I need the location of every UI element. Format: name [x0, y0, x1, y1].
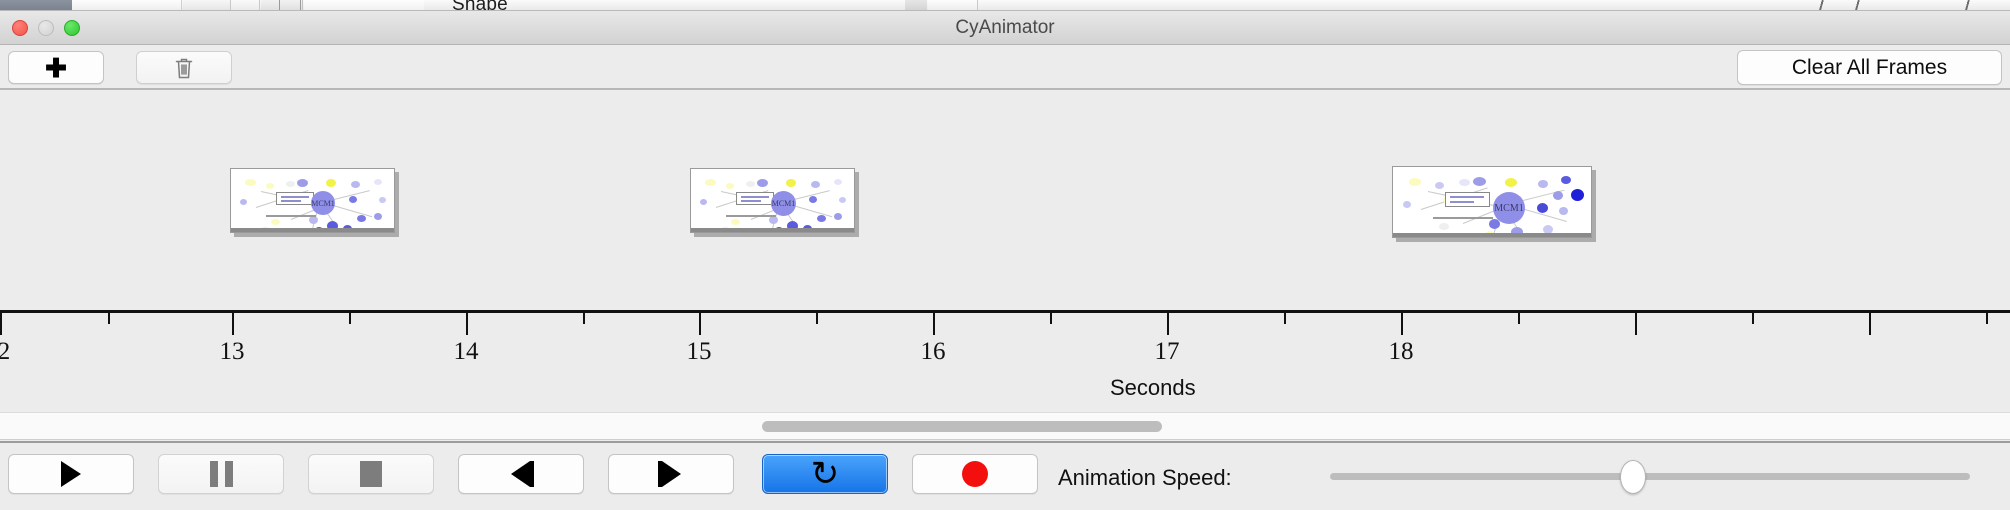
- axis-tick-major: [232, 313, 234, 335]
- axis-tick-minor: [349, 313, 351, 324]
- hub-node: MCM1: [771, 191, 796, 216]
- animation-speed-label: Animation Speed:: [1058, 465, 1232, 491]
- animation-speed-slider[interactable]: [1330, 473, 1970, 481]
- axis-tick-minor: [1518, 313, 1520, 324]
- axis-tick-minor: [1986, 313, 1988, 324]
- plus-icon: ✚: [45, 55, 67, 81]
- frame-thumbnail[interactable]: MCM1: [1392, 166, 1592, 238]
- hub-node-label: MCM1: [311, 199, 335, 208]
- title-bar: CyAnimator: [0, 11, 2010, 45]
- callout-box: [1445, 192, 1490, 207]
- skip-back-icon: [508, 461, 534, 487]
- background-chunk-5: [304, 0, 424, 11]
- axis-tick-label: 18: [1389, 338, 1414, 366]
- hub-node: MCM1: [311, 191, 335, 215]
- axis-tick-label: 2: [0, 338, 10, 366]
- background-chunk-4: [261, 0, 303, 11]
- network-graph: MCM1: [231, 169, 394, 232]
- timeline-axis: [0, 310, 2010, 313]
- axis-tick-label: 13: [220, 338, 245, 366]
- axis-tick-minor: [583, 313, 585, 324]
- axis-tick-minor: [108, 313, 110, 324]
- background-slash-3: [1962, 0, 1972, 11]
- axis-tick-minor: [1284, 313, 1286, 324]
- playback-controls: ↻ Animation Speed:: [0, 441, 2010, 510]
- callout-box: [736, 192, 774, 205]
- trash-icon: [175, 57, 193, 79]
- axis-tick-major: [699, 313, 701, 335]
- frames-layer: MCM1: [0, 90, 2010, 310]
- axis-tick-major: [1635, 313, 1637, 335]
- background-chunk-1: [72, 0, 182, 11]
- thumbnail-shadow-bar: [231, 228, 394, 232]
- stop-icon: [360, 461, 382, 487]
- background-chunk-7: [928, 0, 978, 11]
- slider-thumb[interactable]: [1620, 460, 1646, 494]
- hub-node-label: MCM1: [772, 199, 796, 208]
- network-graph: MCM1: [691, 169, 854, 232]
- background-tick-2: [300, 0, 301, 11]
- axis-tick-major: [1167, 313, 1169, 335]
- background-chunk-6: [905, 0, 927, 11]
- timeline-scrollbar-thumb[interactable]: [762, 421, 1162, 432]
- network-graph: MCM1: [1393, 167, 1591, 237]
- frame-thumbnail[interactable]: MCM1: [230, 168, 395, 233]
- slider-track[interactable]: [1330, 473, 1970, 480]
- record-icon: [962, 461, 988, 487]
- axis-tick-minor: [1752, 313, 1754, 324]
- axis-tick-label: 15: [687, 338, 712, 366]
- clear-all-frames-button[interactable]: Clear All Frames: [1737, 50, 2002, 85]
- stop-button[interactable]: [308, 454, 434, 494]
- window-title: CyAnimator: [0, 11, 2010, 45]
- thumbnail-shadow-bar: [691, 228, 854, 232]
- background-slash-2: [1852, 0, 1862, 11]
- axis-tick-major: [1401, 313, 1403, 335]
- axis-tick-minor: [816, 313, 818, 324]
- clear-all-frames-label: Clear All Frames: [1792, 56, 1947, 80]
- timeline-scrollbar[interactable]: [0, 412, 2010, 440]
- hub-node-label: MCM1: [1494, 203, 1523, 214]
- skip-forward-icon: [658, 461, 684, 487]
- axis-title: Seconds: [1110, 375, 1196, 401]
- delete-frame-button[interactable]: [136, 51, 232, 84]
- background-chunk-dark: [0, 0, 72, 11]
- axis-tick-label: 17: [1155, 338, 1180, 366]
- background-tick-1: [279, 0, 280, 11]
- axis-tick-major: [933, 313, 935, 335]
- timeline-panel[interactable]: MCM1: [0, 90, 2010, 412]
- axis-tick-major: [1869, 313, 1871, 335]
- record-button[interactable]: [912, 454, 1038, 494]
- cyanimator-window: Shape CyAnimator ✚ Clear All Frames: [0, 0, 2010, 510]
- thumbnail-shadow-bar: [1393, 233, 1591, 237]
- pause-icon: [210, 461, 233, 487]
- play-button[interactable]: [8, 454, 134, 494]
- add-frame-button[interactable]: ✚: [8, 51, 104, 84]
- frame-thumbnail[interactable]: MCM1: [690, 168, 855, 233]
- loop-button[interactable]: ↻: [762, 454, 888, 494]
- axis-tick-major: [466, 313, 468, 335]
- play-icon: [61, 461, 81, 487]
- axis-tick-label: 14: [454, 338, 479, 366]
- axis-tick-label: 16: [921, 338, 946, 366]
- background-window-label: Shape: [452, 0, 508, 11]
- axis-tick-major: [0, 313, 2, 335]
- background-chunk-2: [183, 0, 231, 11]
- background-slash-1: [1816, 0, 1826, 11]
- axis-tick-minor: [1050, 313, 1052, 324]
- hub-node: MCM1: [1493, 192, 1525, 224]
- callout-box: [276, 192, 314, 205]
- background-chunk-3: [232, 0, 260, 11]
- next-frame-button[interactable]: [608, 454, 734, 494]
- background-window-strip: Shape: [0, 0, 2010, 11]
- prev-frame-button[interactable]: [458, 454, 584, 494]
- toolbar: ✚ Clear All Frames: [0, 45, 2010, 90]
- pause-button[interactable]: [158, 454, 284, 494]
- loop-icon: ↻: [811, 457, 840, 491]
